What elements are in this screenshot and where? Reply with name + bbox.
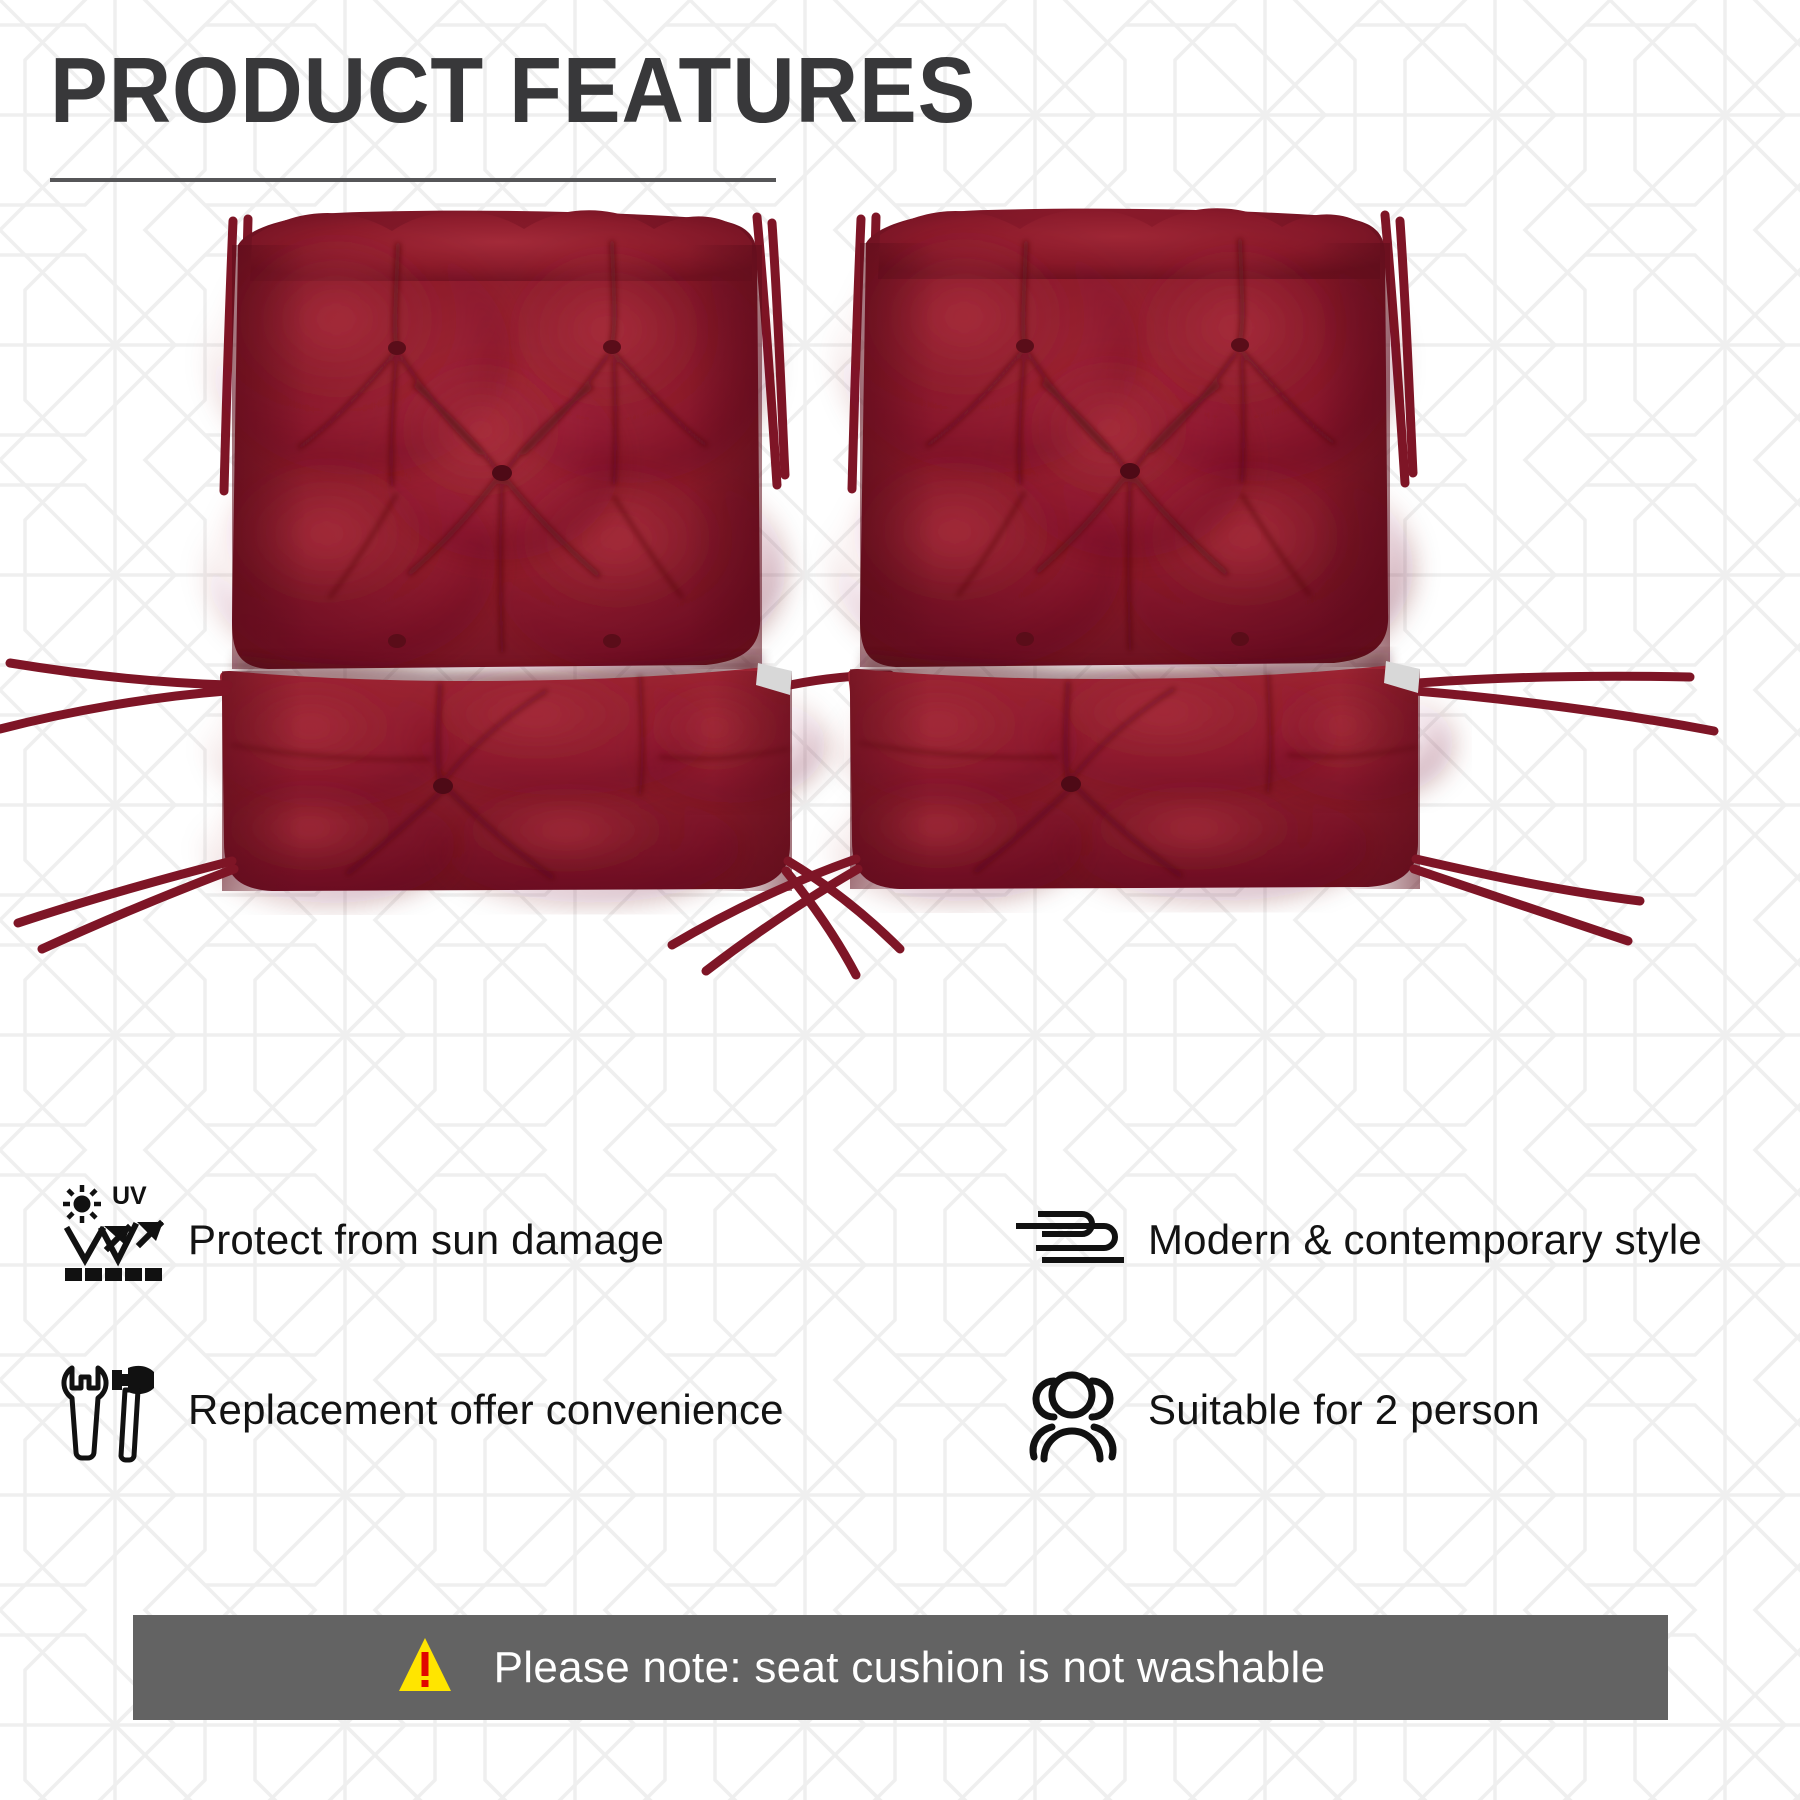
- feature-label: Protect from sun damage: [188, 1216, 664, 1264]
- page-title: PRODUCT FEATURES: [50, 42, 976, 140]
- modern-style-lines-icon: [1010, 1180, 1130, 1300]
- feature-item-replacement: Replacement offer convenience: [50, 1325, 840, 1495]
- cushion-right: [672, 208, 1714, 971]
- feature-list: UV: [50, 1155, 1750, 1495]
- page-header: PRODUCT FEATURES: [50, 42, 1046, 182]
- product-photo-cushion-set: [0, 185, 1800, 1015]
- warning-triangle-icon: [396, 1635, 454, 1700]
- note-banner: Please note: seat cushion is not washabl…: [133, 1615, 1668, 1720]
- cushion-tie: [0, 663, 234, 949]
- wrench-hammer-tools-icon: [50, 1350, 170, 1470]
- feature-item-sun-protection: UV: [50, 1155, 840, 1325]
- feature-item-modern-style: Modern & contemporary style: [870, 1155, 1660, 1325]
- note-text: Please note: seat cushion is not washabl…: [494, 1643, 1326, 1693]
- feature-label: Modern & contemporary style: [1148, 1216, 1702, 1264]
- uv-sun-protection-icon: UV: [50, 1180, 170, 1300]
- feature-item-capacity: Suitable for 2 person: [870, 1325, 1660, 1495]
- cushion-left: [0, 210, 900, 975]
- svg-text:UV: UV: [112, 1182, 147, 1210]
- people-group-icon: [1010, 1350, 1130, 1470]
- title-divider: [50, 178, 776, 182]
- feature-label: Replacement offer convenience: [188, 1386, 784, 1434]
- feature-label: Suitable for 2 person: [1148, 1386, 1540, 1434]
